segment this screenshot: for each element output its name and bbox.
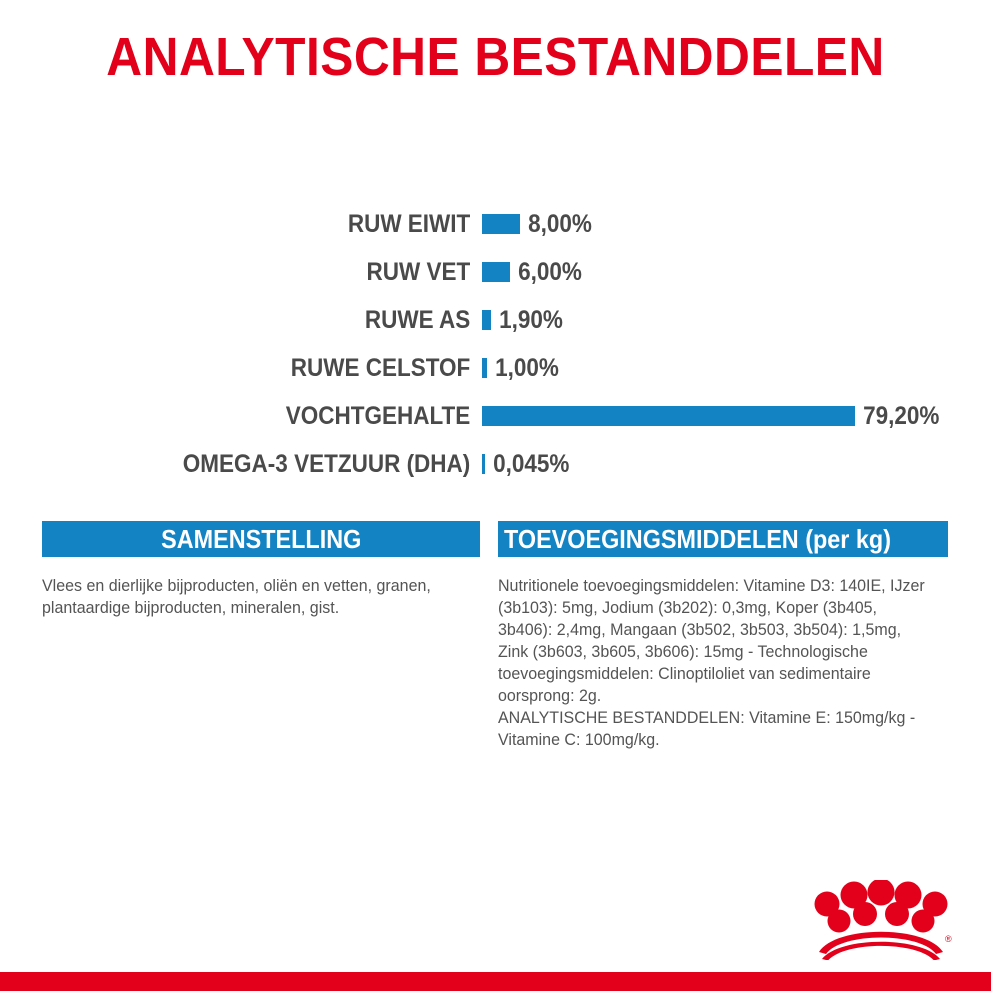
- chart-row: VOCHTGEHALTE79,20%: [0, 392, 991, 440]
- composition-header-label: SAMENSTELLING: [161, 524, 361, 555]
- chart-bar-wrapper: 1,00%: [482, 354, 991, 383]
- additives-header-label: TOEVOEGINGSMIDDELEN (per kg): [504, 524, 891, 555]
- chart-row: RUWE CELSTOF1,00%: [0, 344, 991, 392]
- chart-row-label: RUWE AS: [48, 306, 482, 335]
- chart-row: OMEGA-3 VETZUUR (DHA)0,045%: [0, 440, 991, 488]
- royal-canin-crown-logo: ®: [806, 880, 956, 960]
- chart-bar: [482, 358, 487, 378]
- composition-header: SAMENSTELLING: [42, 521, 480, 557]
- chart-bar: [482, 310, 491, 330]
- chart-row: RUW VET6,00%: [0, 248, 991, 296]
- chart-bar-wrapper: 0,045%: [482, 450, 991, 479]
- additives-column: TOEVOEGINGSMIDDELEN (per kg) Nutritionel…: [498, 521, 948, 751]
- chart-bar-wrapper: 8,00%: [482, 210, 991, 239]
- chart-row-value: 1,90%: [491, 306, 563, 335]
- analytical-constituents-chart: RUW EIWIT8,00%RUW VET6,00%RUWE AS1,90%RU…: [0, 200, 991, 488]
- additives-body: Nutritionele toevoegingsmiddelen: Vitami…: [498, 575, 935, 751]
- chart-bar: [482, 214, 520, 234]
- chart-bar-wrapper: 1,90%: [482, 306, 991, 335]
- chart-row-label: RUWE CELSTOF: [48, 354, 482, 383]
- chart-bar: [482, 262, 510, 282]
- chart-row-label: VOCHTGEHALTE: [48, 402, 482, 431]
- chart-row: RUW EIWIT8,00%: [0, 200, 991, 248]
- info-sections: SAMENSTELLING Vlees en dierlijke bijprod…: [0, 521, 991, 751]
- chart-bar-wrapper: 6,00%: [482, 258, 991, 287]
- analytical-constituents-page: ANALYTISCHE BESTANDDELEN RUW EIWIT8,00%R…: [0, 0, 991, 991]
- chart-row-value: 6,00%: [510, 258, 582, 287]
- chart-row-value: 1,00%: [487, 354, 559, 383]
- bottom-accent-bar: [0, 972, 991, 991]
- chart-bar: [482, 406, 855, 426]
- registered-mark: ®: [945, 934, 952, 944]
- chart-bar-wrapper: 79,20%: [482, 402, 991, 431]
- chart-row-value: 8,00%: [520, 210, 592, 239]
- chart-row-value: 0,045%: [485, 450, 569, 479]
- composition-body: Vlees en dierlijke bijproducten, oliën e…: [42, 575, 467, 619]
- chart-row: RUWE AS1,90%: [0, 296, 991, 344]
- additives-header: TOEVOEGINGSMIDDELEN (per kg): [498, 521, 948, 557]
- page-title: ANALYTISCHE BESTANDDELEN: [40, 26, 952, 88]
- chart-row-label: RUW EIWIT: [48, 210, 482, 239]
- chart-row-label: OMEGA-3 VETZUUR (DHA): [48, 450, 482, 479]
- chart-row-label: RUW VET: [48, 258, 482, 287]
- chart-row-value: 79,20%: [855, 402, 939, 431]
- composition-column: SAMENSTELLING Vlees en dierlijke bijprod…: [42, 521, 480, 751]
